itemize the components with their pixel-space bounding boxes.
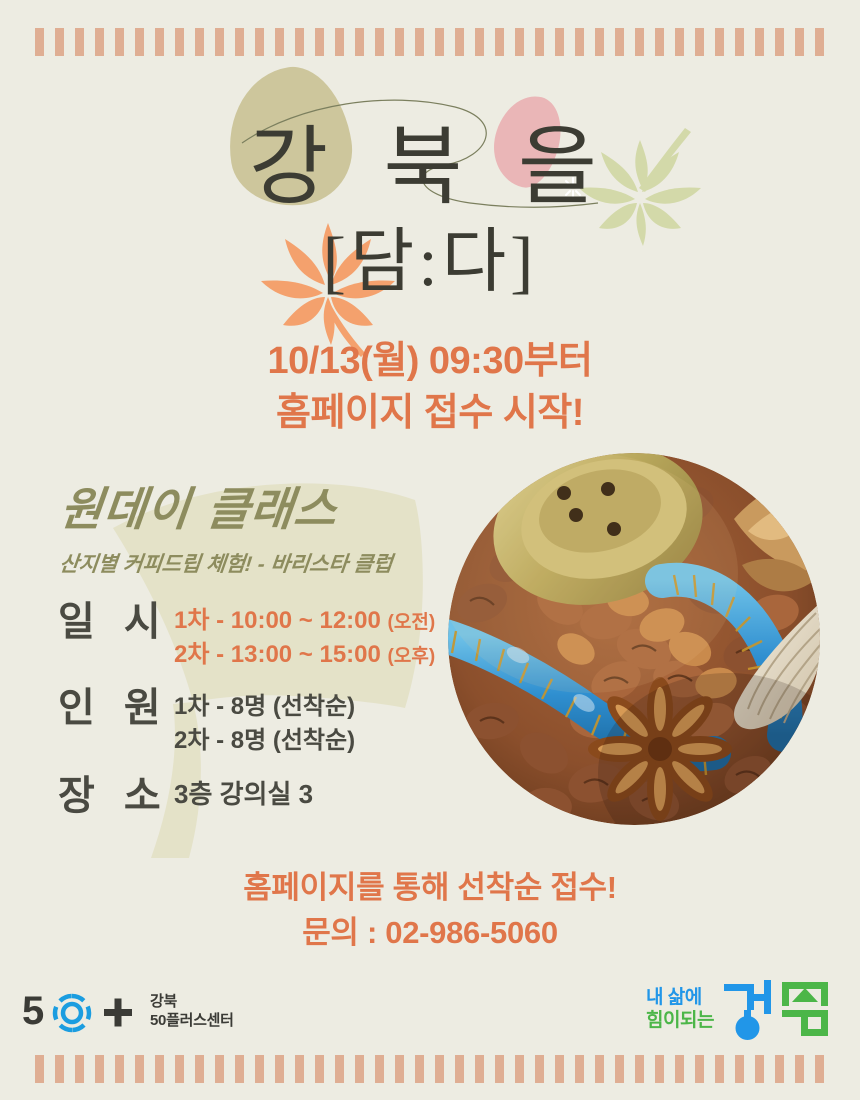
logo-50plus: 5 강북 50플러스센터 — [22, 988, 234, 1034]
detail-text: 2차 - 13:00 ~ 15:00 — [174, 641, 388, 668]
contact-block: 홈페이지를 통해 선착순 접수! 문의 : 02-986-5060 — [0, 866, 860, 956]
detail-line: 1차 - 10:00 ~ 12:00 (오전) — [174, 604, 435, 638]
fifty-plus-icon: 5 — [22, 988, 140, 1034]
detail-value-capacity: 1차 - 8명 (선착순) 2차 - 8명 (선착순) — [174, 686, 355, 758]
detail-row-datetime: 일 시 1차 - 10:00 ~ 12:00 (오전) 2차 - 13:00 ~… — [58, 600, 488, 672]
class-info-block: 원데이 클래스 산지별 커피드립 체험! - 바리스타 클럽 일 시 1차 - … — [58, 486, 488, 832]
detail-row-capacity: 인 원 1차 - 8명 (선착순) 2차 - 8명 (선착순) — [58, 686, 488, 758]
announcement-line-1: 10/13(월) 09:30부터 — [0, 335, 860, 387]
gangbuk-brand-icon — [720, 978, 840, 1040]
coffee-beans-photo — [448, 453, 820, 825]
logo-50plus-mark: 5 — [22, 988, 140, 1034]
class-details-table: 일 시 1차 - 10:00 ~ 12:00 (오전) 2차 - 13:00 ~… — [58, 600, 488, 818]
logo-gangbuk-slogan-line1: 내 삶에 — [646, 986, 714, 1009]
svg-text:5: 5 — [22, 989, 44, 1033]
detail-note: (오후) — [388, 646, 436, 667]
logo-50plus-name-line1: 강북 — [150, 992, 234, 1011]
logo-50plus-name: 강북 50플러스센터 — [150, 992, 234, 1030]
contact-line-1: 홈페이지를 통해 선착순 접수! — [0, 866, 860, 911]
detail-label-capacity: 인 원 — [58, 686, 174, 730]
detail-value-location: 3층 강의실 3 — [174, 772, 313, 813]
detail-line: 2차 - 8명 (선착순) — [174, 724, 355, 758]
announcement-block: 10/13(월) 09:30부터 홈페이지 접수 시작! — [0, 335, 860, 440]
detail-value-datetime: 1차 - 10:00 ~ 12:00 (오전) 2차 - 13:00 ~ 15:… — [174, 600, 435, 672]
poster-title-main: 강 북 을 — [0, 124, 860, 210]
detail-line: 3층 강의실 3 — [174, 776, 313, 813]
detail-text: 1차 - 10:00 ~ 12:00 — [174, 607, 388, 634]
poster-title-sub: [담:다] — [0, 228, 860, 298]
detail-label-location: 장 소 — [58, 772, 174, 818]
logo-gangbuk-slogan-line2: 힘이되는 — [646, 1009, 714, 1032]
detail-note: (오전) — [388, 612, 436, 633]
detail-row-location: 장 소 3층 강의실 3 — [58, 772, 488, 818]
detail-label-datetime: 일 시 — [58, 600, 174, 644]
bottom-dashed-strip — [35, 1055, 825, 1083]
top-dashed-strip — [35, 28, 825, 56]
class-tagline: 산지별 커피드립 체험! - 바리스타 클럽 — [58, 548, 491, 578]
coffee-photo-illustration — [448, 453, 820, 825]
contact-line-2: 문의 : 02-986-5060 — [0, 911, 860, 956]
detail-line: 2차 - 13:00 ~ 15:00 (오후) — [174, 638, 435, 672]
logo-50plus-name-line2: 50플러스센터 — [150, 1011, 234, 1030]
logo-gangbuk-slogan: 내 삶에 힘이되는 — [646, 986, 714, 1032]
logo-gangbuk: 내 삶에 힘이되는 — [646, 978, 840, 1040]
announcement-line-2: 홈페이지 접수 시작! — [0, 387, 860, 439]
poster-canvas: 강 북 을 [담:다] 10/13(월) 09:30부터 홈페이지 접수 시작!… — [0, 0, 860, 1100]
detail-line: 1차 - 8명 (선착순) — [174, 690, 355, 724]
class-heading: 원데이 클래스 — [58, 486, 493, 532]
